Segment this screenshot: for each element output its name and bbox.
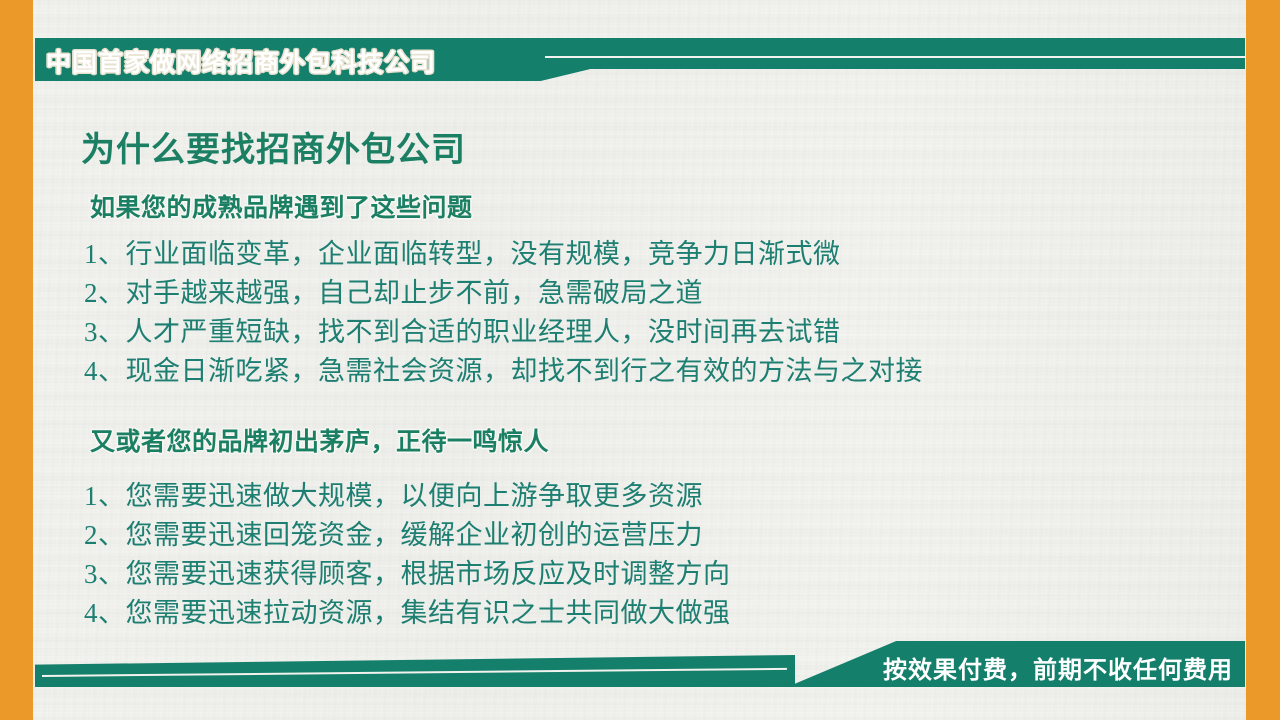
list-item: 1、行业面临变革，企业面临转型，没有规模，竞争力日渐式微 [84, 235, 923, 274]
list-item: 3、您需要迅速获得顾客，根据市场反应及时调整方向 [84, 555, 731, 594]
list-item: 2、您需要迅速回笼资金，缓解企业初创的运营压力 [84, 516, 731, 555]
header-banner-text: 中国首家做网络招商外包科技公司 [46, 43, 436, 79]
list-item: 3、人才严重短缺，找不到合适的职业经理人，没时间再去试错 [84, 313, 923, 352]
list-item: 4、现金日渐吃紧，急需社会资源，却找不到行之有效的方法与之对接 [84, 352, 923, 391]
opportunity-list: 1、您需要迅速做大规模，以便向上游争取更多资源 2、您需要迅速回笼资金，缓解企业… [84, 477, 731, 633]
list-item: 4、您需要迅速拉动资源，集结有识之士共同做大做强 [84, 594, 731, 633]
section-heading-opportunities: 又或者您的品牌初出茅庐，正待一鸣惊人 [90, 422, 549, 458]
list-item: 2、对手越来越强，自己却止步不前，急需破局之道 [84, 274, 923, 313]
page-title: 为什么要找招商外包公司 [81, 122, 466, 171]
problem-list: 1、行业面临变革，企业面临转型，没有规模，竞争力日渐式微 2、对手越来越强，自己… [84, 235, 923, 391]
section-heading-problems: 如果您的成熟品牌遇到了这些问题 [90, 188, 473, 224]
list-item: 1、您需要迅速做大规模，以便向上游争取更多资源 [84, 477, 731, 516]
header-divider-line [545, 56, 1245, 58]
slide-canvas: 中国首家做网络招商外包科技公司 为什么要找招商外包公司 如果您的成熟品牌遇到了这… [0, 0, 1280, 720]
footer-tagline: 按效果付费，前期不收任何费用 [883, 650, 1233, 685]
